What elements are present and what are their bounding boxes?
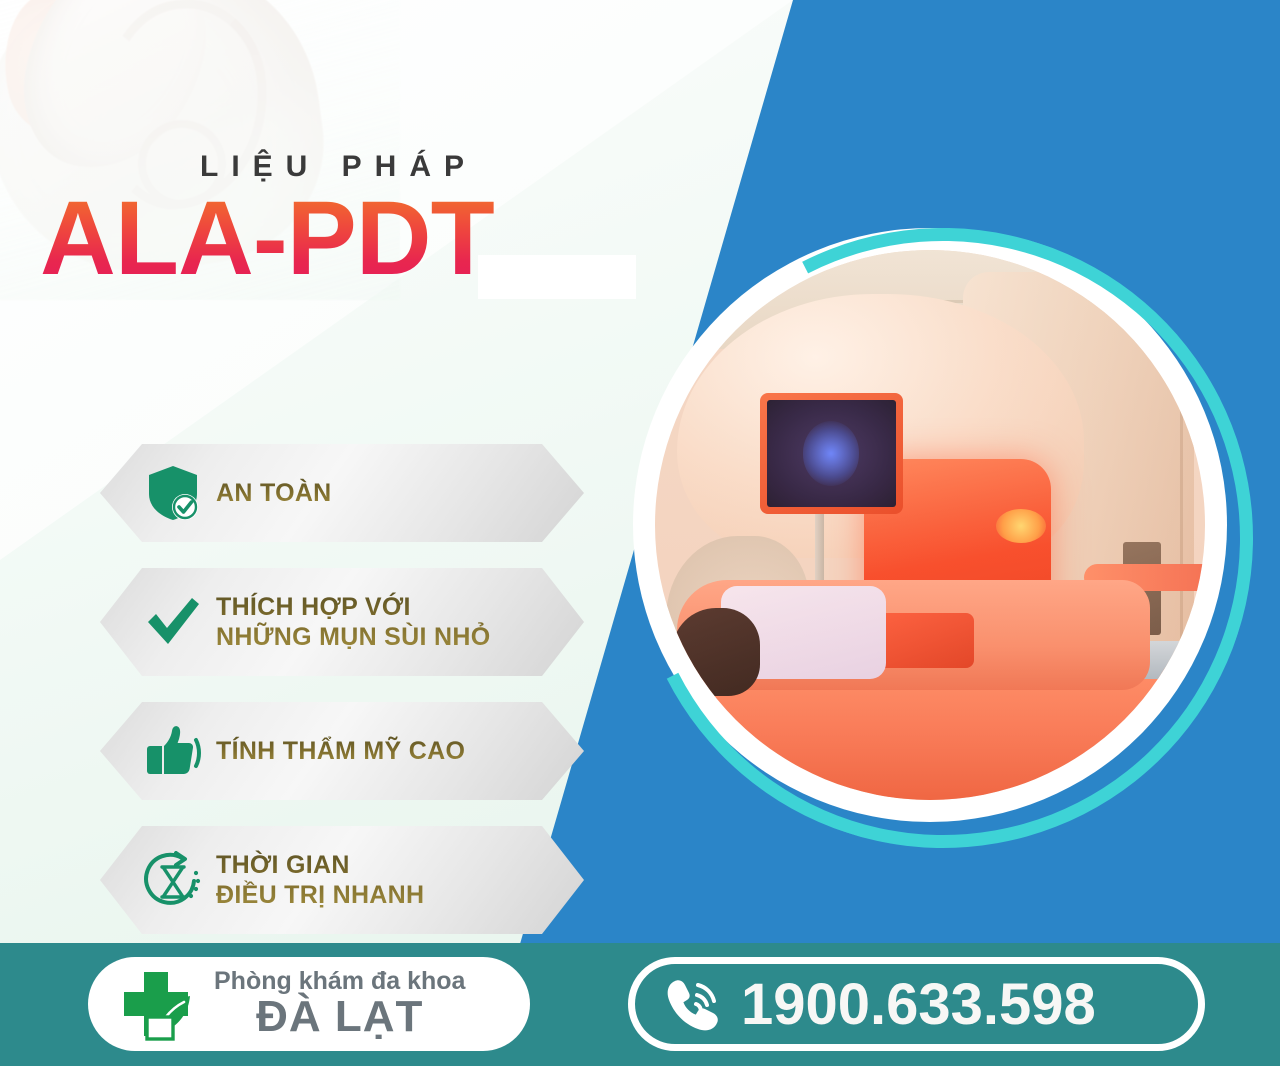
shield-check-icon [130,464,216,522]
feature-badge-label: TÍNH THẨM MỸ CAO [216,736,465,767]
phone-cta-pill[interactable]: 1900.633.598 [628,957,1205,1051]
treatment-machine-photo [655,250,1205,800]
phone-number: 1900.633.598 [741,971,1096,1038]
feature-badge-suitable[interactable]: THÍCH HỢP VỚI NHỮNG MỤN SÙI NHỎ [100,568,584,676]
hourglass-clock-icon [130,851,216,909]
feature-badge-label: THỜI GIAN ĐIỀU TRỊ NHANH [216,850,424,911]
feature-badge-label: THÍCH HỢP VỚI NHỮNG MỤN SÙI NHỎ [216,592,490,653]
thumbs-up-icon [130,724,216,778]
feature-badge-safety[interactable]: AN TOÀN [100,444,584,542]
blanked-text-block [478,255,636,299]
feature-badge-list: AN TOÀN THÍCH HỢP VỚI NHỮNG MỤN SÙI NHỎ … [100,444,600,960]
banner-brand-title: ALA-PDT [40,186,494,291]
banner-kicker: LIỆU PHÁP [200,150,477,184]
feature-badge-fast-treatment[interactable]: THỜI GIAN ĐIỀU TRỊ NHANH [100,826,584,934]
clinic-text-block: Phòng khám đa khoa ĐÀ LẠT [214,968,465,1039]
feature-badge-aesthetic[interactable]: TÍNH THẨM MỸ CAO [100,702,584,800]
medical-cross-leaf-icon [108,962,204,1046]
feature-badge-label: AN TOÀN [216,478,332,509]
check-mark-icon [130,594,216,650]
clinic-subtitle: Phòng khám đa khoa [214,968,465,994]
promo-banner: LIỆU PHÁP ALA-PDT [0,0,1280,1066]
footer-bar: Phòng khám đa khoa ĐÀ LẠT 1900.633.598 [0,943,1280,1066]
photo-color-wash [655,250,1205,800]
clinic-name: ĐÀ LẠT [214,995,465,1040]
clinic-branding-pill[interactable]: Phòng khám đa khoa ĐÀ LẠT [88,957,530,1051]
phone-call-icon [649,973,735,1035]
